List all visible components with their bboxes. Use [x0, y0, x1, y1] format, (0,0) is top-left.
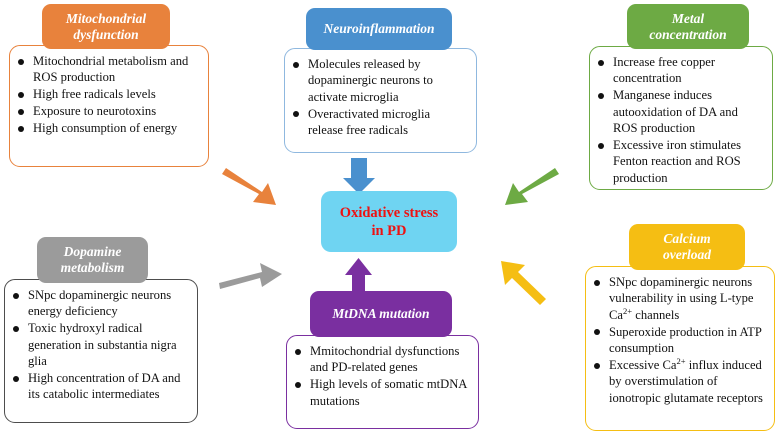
center-node-oxidative-stress[interactable]: Oxidative stress in PD: [321, 191, 457, 252]
list-item: Mmitochondrial dysfunctions and PD-relat…: [293, 343, 470, 376]
list-item: SNpc dopaminergic neurons energy deficie…: [11, 287, 189, 320]
header-line-2: concentration: [649, 27, 726, 42]
header-line-1: Mitochondrial: [66, 11, 146, 26]
list-item: High consumption of energy: [16, 120, 200, 136]
arrow-mitochondrial-dysfunction: [222, 168, 276, 205]
list-item: High concentration of DA and its catabol…: [11, 370, 189, 403]
box-neuroinflammation[interactable]: Molecules released by dopaminergic neuro…: [284, 48, 477, 153]
header-line-1: Calcium: [663, 231, 710, 246]
center-node-line-2: in PD: [371, 223, 406, 239]
list-mitochondrial-dysfunction: Mitochondrial metabolism and ROS product…: [16, 53, 200, 137]
list-item: Superoxide production in ATP consumption: [592, 324, 766, 357]
list-dopamine-metabolism: SNpc dopaminergic neurons energy deficie…: [11, 287, 189, 403]
header-line-2: overload: [663, 247, 711, 262]
list-mtdna-mutation: Mmitochondrial dysfunctions and PD-relat…: [293, 343, 470, 409]
list-item: Toxic hydroxyl radical generation in sub…: [11, 320, 189, 369]
arrow-calcium-overload: [501, 261, 546, 305]
header-calcium-overload[interactable]: Calcium overload: [629, 224, 745, 270]
box-metal-concentration[interactable]: Increase free copper concentration Manga…: [589, 46, 773, 190]
list-item: High levels of somatic mtDNA mutations: [293, 376, 470, 409]
header-line-1: MtDNA mutation: [332, 306, 429, 322]
list-item: Molecules released by dopaminergic neuro…: [291, 56, 468, 105]
arrow-mtdna-mutation: [345, 258, 372, 295]
box-mtdna-mutation[interactable]: Mmitochondrial dysfunctions and PD-relat…: [286, 335, 479, 429]
list-item: Manganese induces autooxidation of DA an…: [596, 87, 764, 136]
header-line-1: Dopamine: [64, 244, 122, 259]
header-line-2: dysfunction: [73, 27, 138, 42]
list-item: Excessive Ca2+ influx induced by oversti…: [592, 357, 766, 406]
header-mitochondrial-dysfunction[interactable]: Mitochondrial dysfunction: [42, 4, 170, 49]
list-neuroinflammation: Molecules released by dopaminergic neuro…: [291, 56, 468, 139]
list-item: Mitochondrial metabolism and ROS product…: [16, 53, 200, 86]
arrow-metal-concentration: [505, 168, 559, 205]
diagram-canvas: Mitochondrial dysfunction Mitochondrial …: [0, 0, 778, 436]
list-item: Excessive iron stimulates Fenton reactio…: [596, 137, 764, 186]
list-item: Exposure to neurotoxins: [16, 103, 200, 119]
arrow-dopamine-metabolism: [219, 263, 282, 289]
arrow-neuroinflammation: [343, 158, 375, 194]
list-metal-concentration: Increase free copper concentration Manga…: [596, 54, 764, 186]
center-node-line-1: Oxidative stress: [340, 205, 438, 221]
list-item: Overactivated microglia release free rad…: [291, 106, 468, 139]
box-dopamine-metabolism[interactable]: SNpc dopaminergic neurons energy deficie…: [4, 279, 198, 423]
header-dopamine-metabolism[interactable]: Dopamine metabolism: [37, 237, 148, 283]
list-item: High free radicals levels: [16, 86, 200, 102]
header-neuroinflammation[interactable]: Neuroinflammation: [306, 8, 452, 50]
header-line-2: metabolism: [61, 260, 125, 275]
header-line-1: Metal: [672, 11, 704, 26]
list-calcium-overload: SNpc dopaminergic neurons vulnerability …: [592, 274, 766, 406]
header-metal-concentration[interactable]: Metal concentration: [627, 4, 749, 49]
list-item: SNpc dopaminergic neurons vulnerability …: [592, 274, 766, 323]
header-line-1: Neuroinflammation: [323, 21, 434, 37]
list-item: Increase free copper concentration: [596, 54, 764, 87]
header-mtdna-mutation[interactable]: MtDNA mutation: [310, 291, 452, 337]
box-calcium-overload[interactable]: SNpc dopaminergic neurons vulnerability …: [585, 266, 775, 431]
box-mitochondrial-dysfunction[interactable]: Mitochondrial metabolism and ROS product…: [9, 45, 209, 167]
